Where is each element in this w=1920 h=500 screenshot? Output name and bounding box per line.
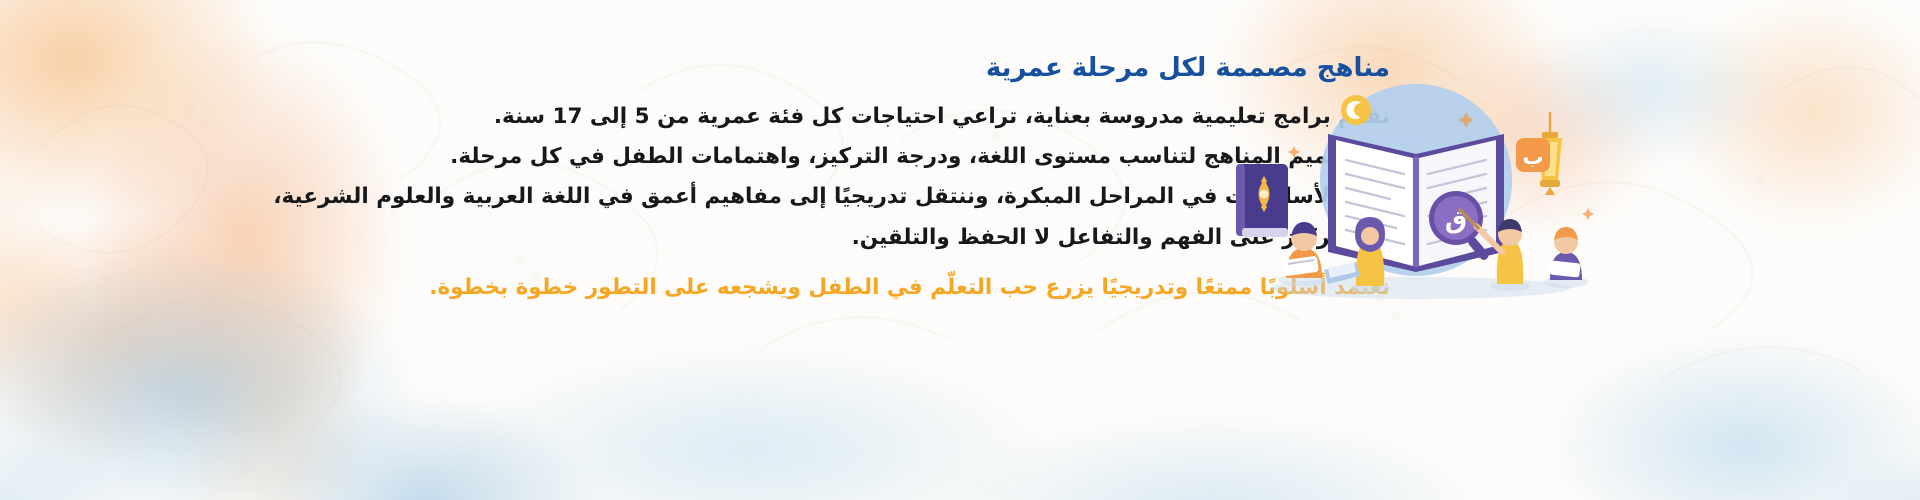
letter-ba-glyph: ب [1522, 145, 1543, 169]
body-line-4: مع التركيز على الفهم والتفاعل لا الحفظ و… [60, 218, 1390, 258]
letter-ba-plaque-icon: ب [1516, 138, 1550, 172]
watercolor-wash-blue-bottom [420, 290, 1520, 500]
body-line-1: نقدّم برامج تعليمية مدروسة بعناية، تراعي… [60, 97, 1390, 137]
page-title: مناهج مصممة لكل مرحلة عمرية [60, 52, 1390, 85]
banner-text-column: مناهج مصممة لكل مرحلة عمرية نقدّم برامج … [60, 52, 1390, 309]
accent-closing-line: نعتمد أسلوبًا ممتعًا وتدريجيًا يزرع حب ا… [60, 268, 1390, 308]
education-illustration: ب ق [1220, 76, 1620, 314]
crescent-badge-icon [1341, 95, 1371, 125]
child-figure-seated [1544, 227, 1588, 288]
watercolor-wash-orange-right [1620, 0, 1920, 300]
body-line-2: تم تصميم المناهج لتناسب مستوى اللغة، ودر… [60, 137, 1390, 177]
quran-book-icon [1236, 164, 1288, 237]
curriculum-banner: مناهج مصممة لكل مرحلة عمرية نقدّم برامج … [0, 0, 1920, 500]
body-line-3: نبدأ بالأساسيات في المراحل المبكرة، وننت… [60, 177, 1390, 217]
letter-qaf-glyph: ق [1445, 205, 1467, 234]
